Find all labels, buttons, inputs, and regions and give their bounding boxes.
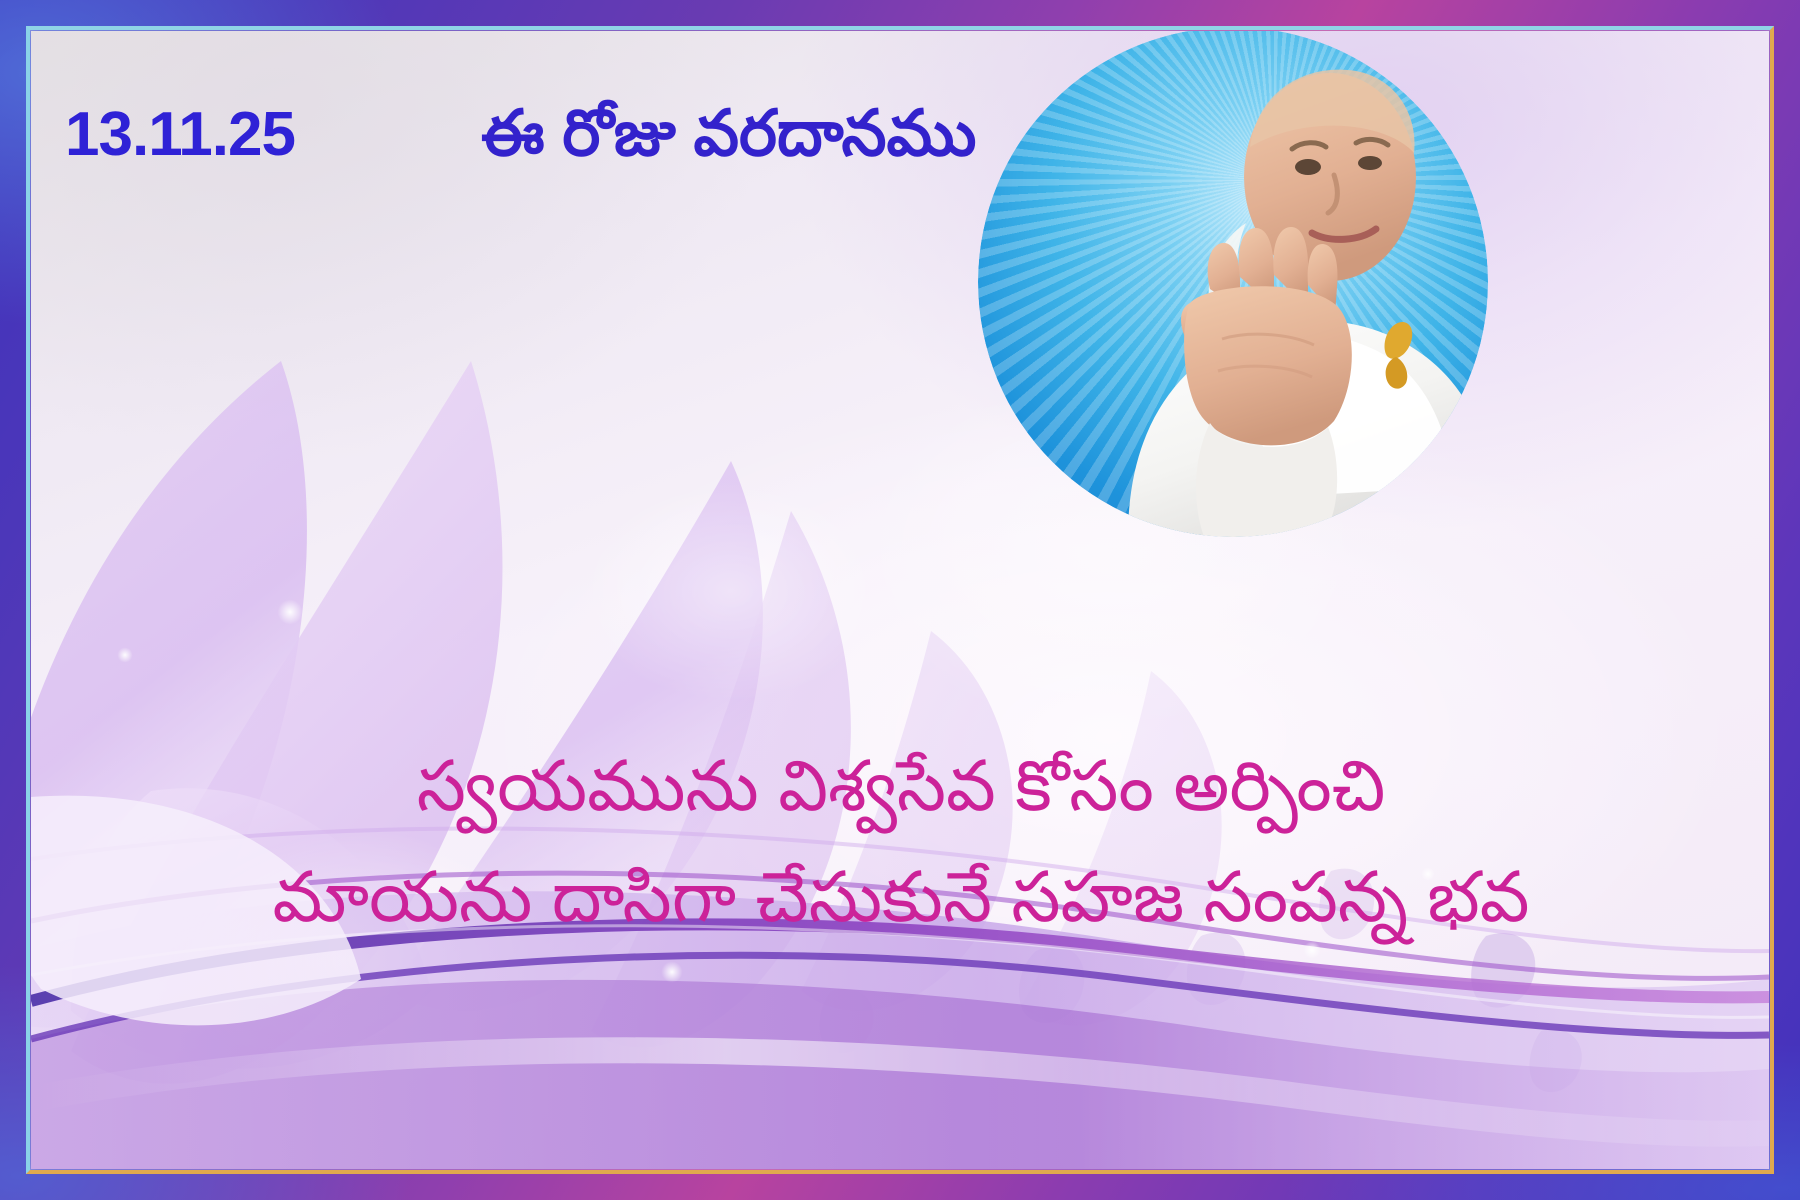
page-title: ఈ రోజు వరదానము (481, 100, 976, 167)
poster-header: 13.11.25 ఈ రోజు వరదానము (31, 79, 1769, 189)
dadi-portrait (978, 31, 1488, 537)
message-line-1: స్వయమును విశ్వసేవ కోసం అర్పించి (91, 731, 1711, 842)
message-line-2: మాయను దాసిగా చేసుకునే సహజ సంపన్న భవ (91, 842, 1711, 953)
poster-root: 13.11.25 ఈ రోజు వరదానము (0, 0, 1800, 1200)
poster-card: 13.11.25 ఈ రోజు వరదానము (31, 31, 1769, 1169)
date-label: 13.11.25 (65, 99, 295, 170)
blessing-message: స్వయమును విశ్వసేవ కోసం అర్పించి మాయను దా… (91, 731, 1711, 952)
portrait-figure (978, 31, 1488, 537)
